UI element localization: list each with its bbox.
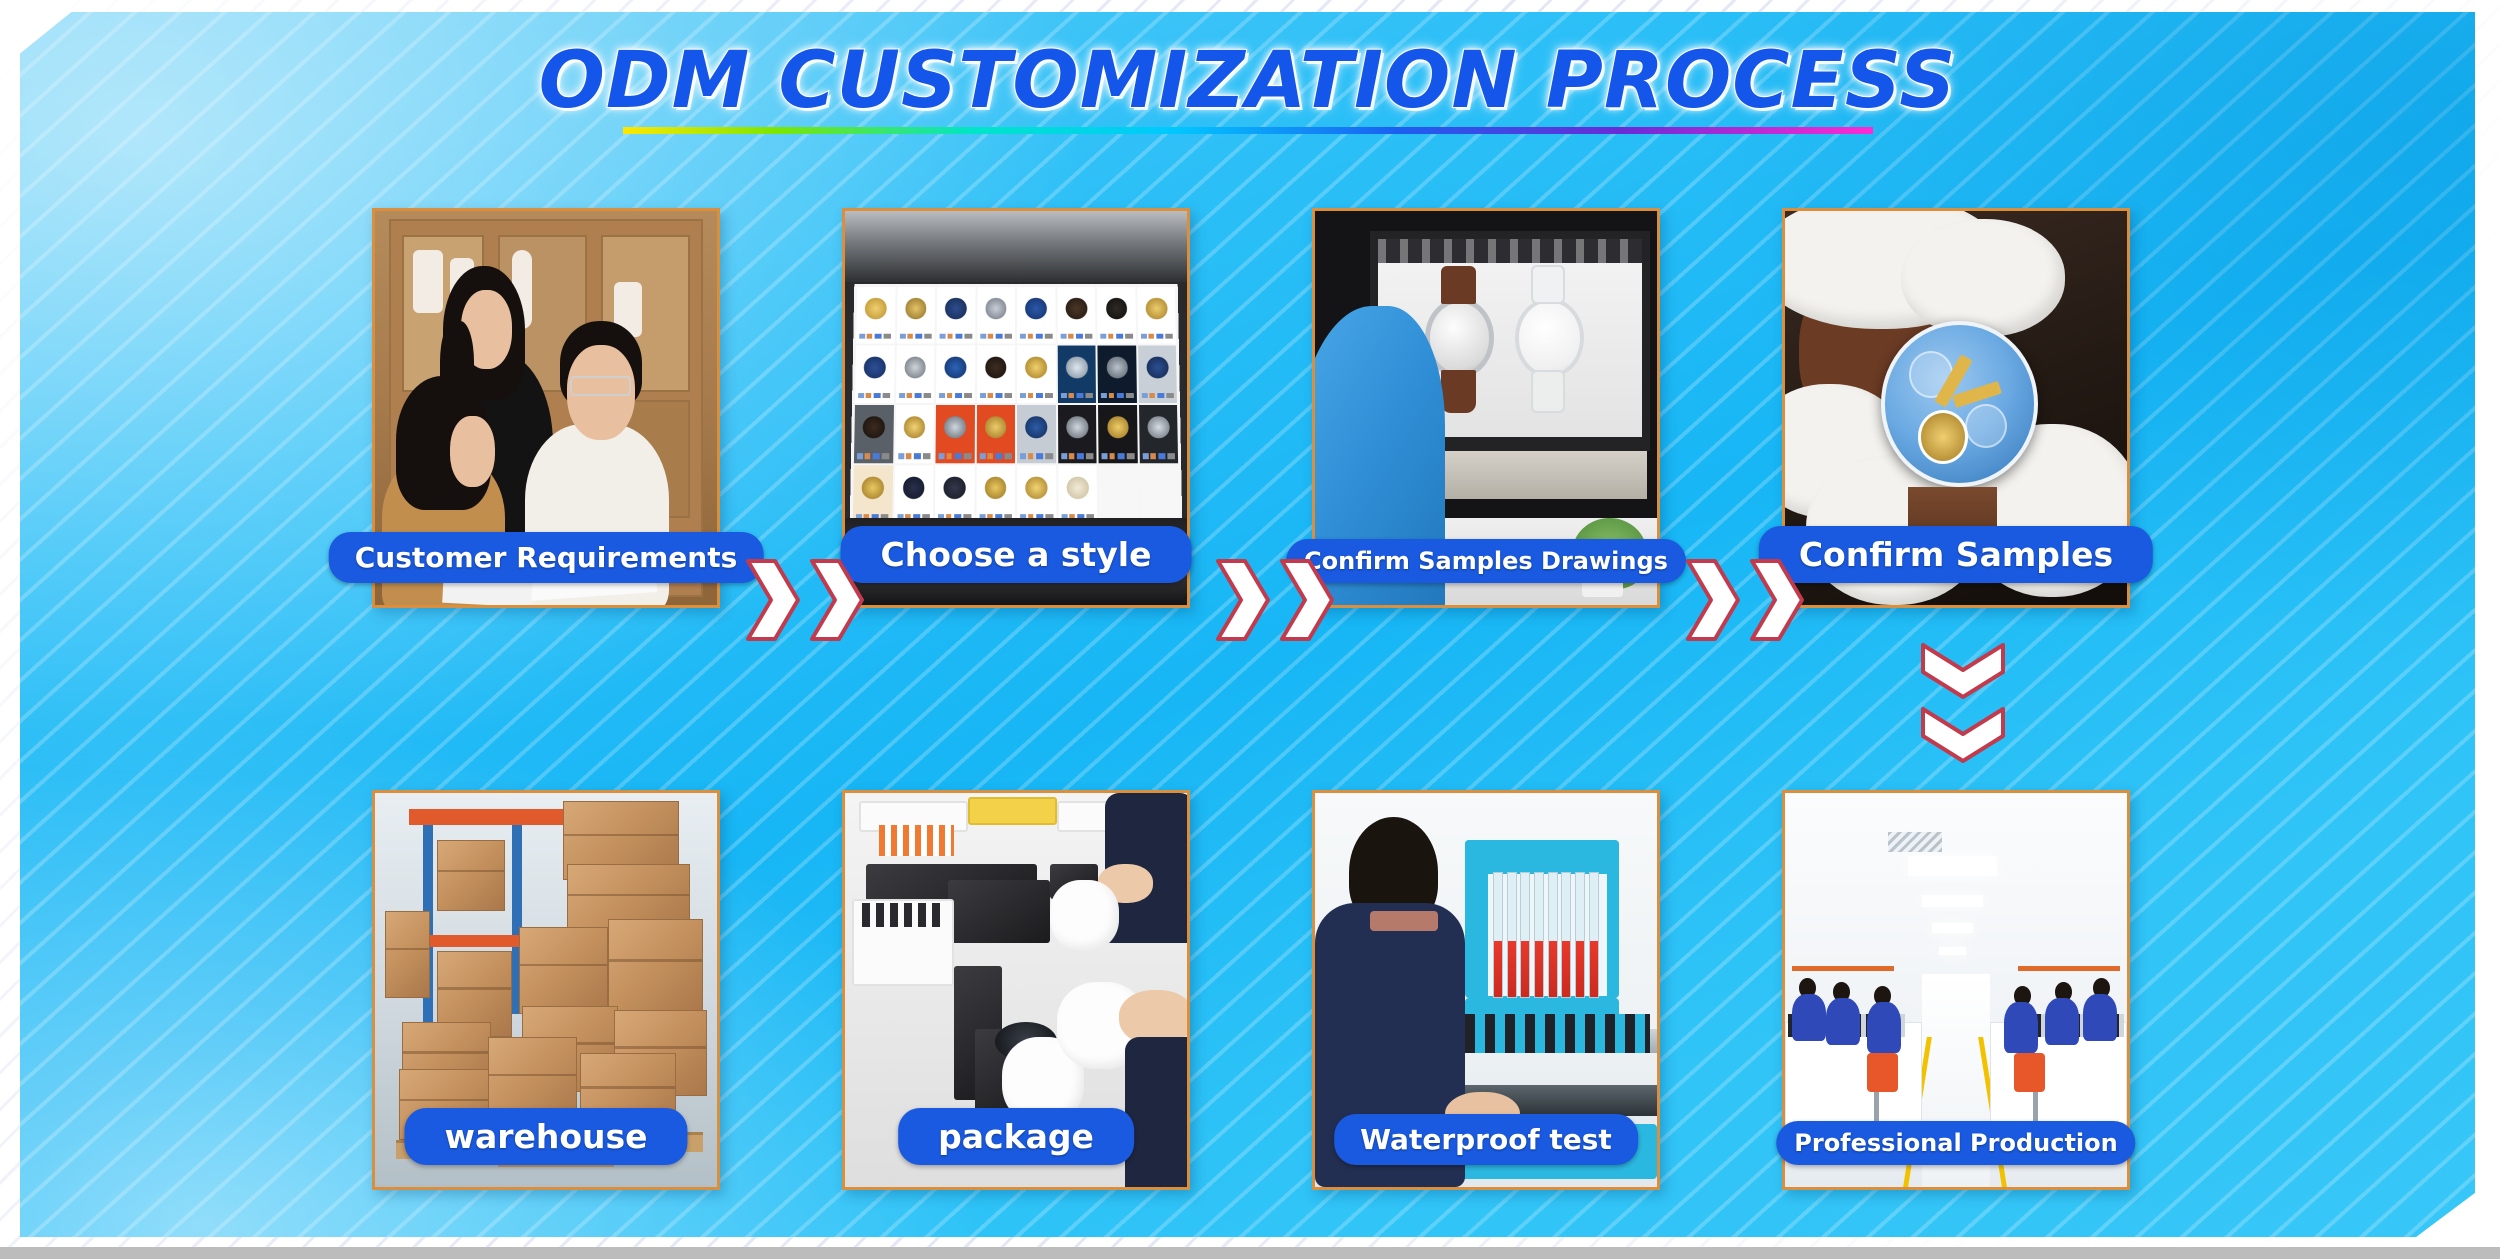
- chevron-right-icon: [1215, 558, 1271, 642]
- step-label-pill: package: [898, 1108, 1134, 1165]
- title-rainbow-underline: [623, 127, 1873, 134]
- chevron-right-icon: [1685, 558, 1741, 642]
- blue-panel: ODM CUSTOMIZATION PROCESS: [20, 12, 2475, 1237]
- poster-page: ODM CUSTOMIZATION PROCESS: [0, 0, 2500, 1259]
- step-card-confirm-samples-drawings[interactable]: Confirm Samples Drawings: [1312, 208, 1660, 608]
- step-card-package[interactable]: package: [842, 790, 1190, 1190]
- step-card-choose-a-style[interactable]: Choose a style: [842, 208, 1190, 608]
- step-card-warehouse[interactable]: warehouse: [372, 790, 720, 1190]
- step-card-customer-requirements[interactable]: Customer Requirements: [372, 208, 720, 608]
- step-label-pill: Confirm Samples Drawings: [1286, 539, 1686, 583]
- page-title-block: ODM CUSTOMIZATION PROCESS: [20, 40, 2475, 134]
- step-card-waterproof-test[interactable]: Waterproof test: [1312, 790, 1660, 1190]
- step-card-confirm-samples[interactable]: Confirm Samples: [1782, 208, 2130, 608]
- chevron-right-icon: [1749, 558, 1805, 642]
- step-label-pill: Customer Requirements: [329, 532, 764, 583]
- chevron-down-icon: [1920, 706, 2006, 764]
- arrow-group-down: [1920, 642, 2006, 764]
- step-label-pill: Waterproof test: [1334, 1114, 1638, 1165]
- step-label-pill: warehouse: [404, 1108, 687, 1165]
- process-row-bottom: warehouse: [20, 790, 2475, 1210]
- arrow-group-right-2: [1215, 558, 1335, 642]
- chevron-down-icon: [1920, 642, 2006, 700]
- step-label-pill: Choose a style: [841, 526, 1192, 583]
- bottom-gray-bar: [0, 1247, 2500, 1259]
- step-label-pill: Professional Production: [1776, 1121, 2135, 1165]
- chevron-right-icon: [809, 558, 865, 642]
- arrow-group-right-3: [1685, 558, 1805, 642]
- step-label-pill: Confirm Samples: [1759, 526, 2153, 583]
- chevron-right-icon: [745, 558, 801, 642]
- page-title: ODM CUSTOMIZATION PROCESS: [539, 40, 1957, 123]
- step-card-professional-production[interactable]: Professional Production: [1782, 790, 2130, 1190]
- chevron-right-icon: [1279, 558, 1335, 642]
- process-row-top: Customer Requirements: [20, 208, 2475, 628]
- arrow-group-right-1: [745, 558, 865, 642]
